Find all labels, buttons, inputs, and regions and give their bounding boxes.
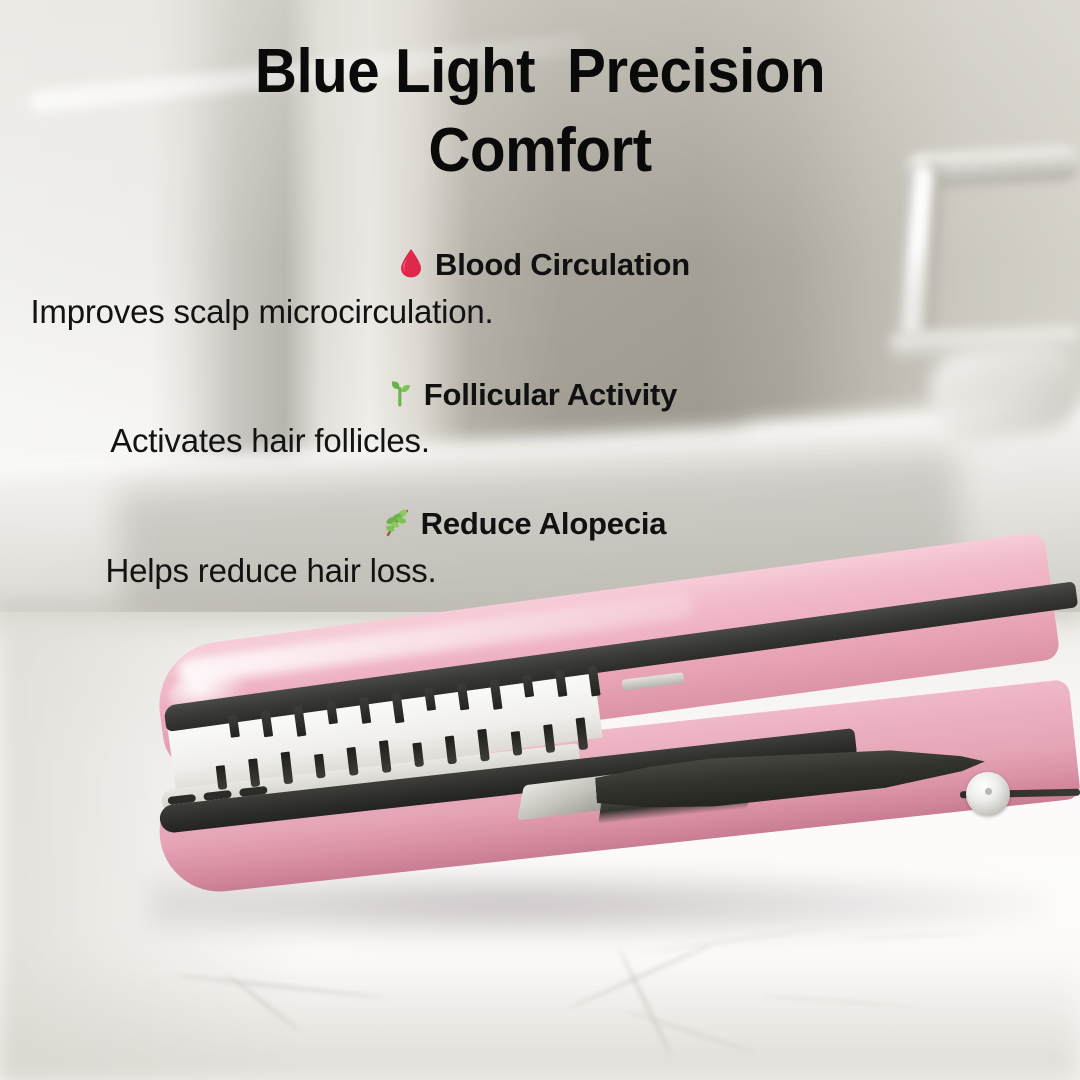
product-poster: Blue LightPrecision Comfort Blood Circul… [0,0,1080,1080]
title-part-precision: Precision [567,37,825,106]
title-part-blue-light: Blue Light [255,37,535,106]
feature-item-blood-circulation: Blood Circulation Improves scalp microci… [0,246,1080,334]
feature-description: Helps reduce hair loss. [0,550,811,593]
seedling-icon [385,376,415,410]
page-title: Blue LightPrecision Comfort [32,32,1047,191]
feature-heading-text: Follicular Activity [424,377,677,412]
feature-heading-text: Blood Circulation [435,247,690,282]
herb-branch-icon [382,505,412,539]
feature-list: Blood Circulation Improves scalp microci… [0,246,1080,613]
blood-drop-icon [396,246,426,280]
feature-heading-text: Reduce Alopecia [421,506,667,541]
feature-heading-row: Follicular Activity [0,376,1071,415]
text-overlay: Blue LightPrecision Comfort Blood Circul… [0,0,1080,1080]
title-part-comfort: Comfort [428,116,651,185]
feature-heading-row: Reduce Alopecia [0,505,1064,544]
feature-description: Improves scalp microcirculation. [0,291,802,334]
feature-heading-row: Blood Circulation [3,246,1080,285]
feature-item-follicular-activity: Follicular Activity Activates hair folli… [0,376,1080,464]
feature-item-reduce-alopecia: Reduce Alopecia Helps reduce hair loss. [0,505,1080,593]
feature-description: Activates hair follicles. [0,420,810,463]
